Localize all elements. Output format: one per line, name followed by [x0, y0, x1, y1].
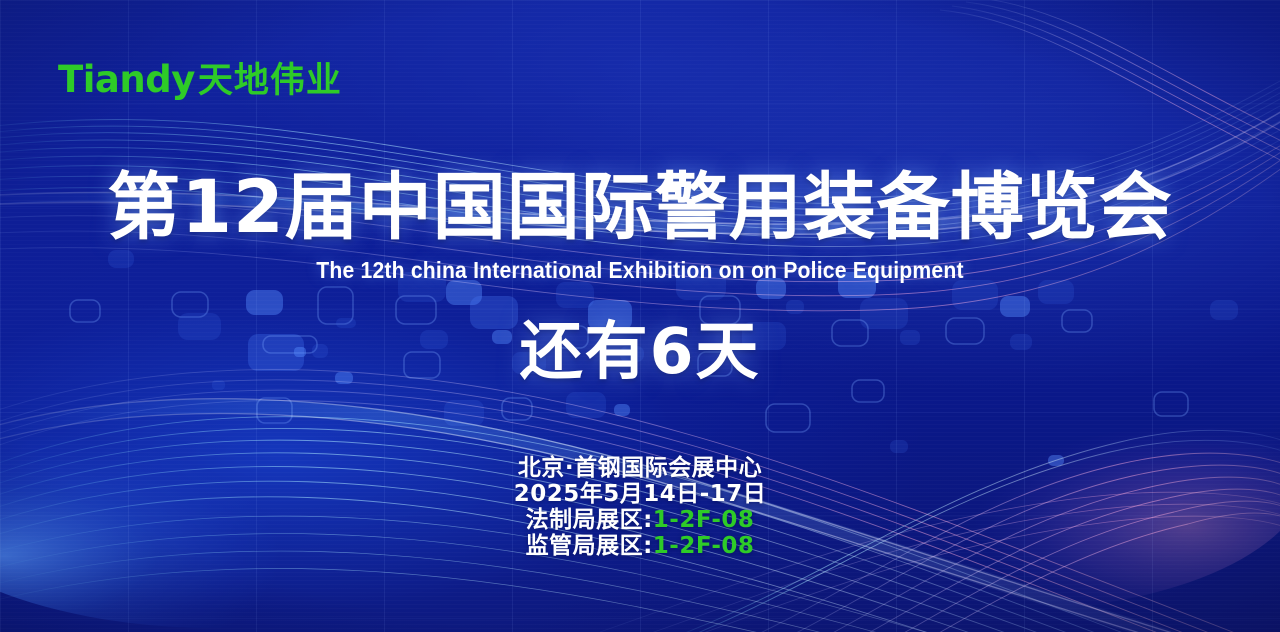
event-info-block: 北京·首钢国际会展中心 2025年5月14日-17日 法制局展区:1-2F-08… — [0, 455, 1280, 559]
booth-line-2: 监管局展区:1-2F-08 — [0, 533, 1280, 559]
dates-line: 2025年5月14日-17日 — [0, 481, 1280, 507]
booth-code-2: 1-2F-08 — [653, 533, 755, 559]
logo-chinese-text: 天地伟业 — [198, 52, 342, 103]
main-title-english: The 12th china International Exhibition … — [51, 257, 1229, 284]
promotional-banner: Tiandy 天地伟业 第12届中国国际警用装备博览会 The 12th chi… — [0, 0, 1280, 632]
countdown-text: 还有6天 — [0, 315, 1280, 389]
venue-line: 北京·首钢国际会展中心 — [0, 455, 1280, 481]
banner-content: Tiandy 天地伟业 第12届中国国际警用装备博览会 The 12th chi… — [0, 0, 1280, 632]
booth-code-1: 1-2F-08 — [653, 507, 755, 533]
booth-label-1: 法制局展区: — [526, 507, 653, 533]
title-block: 第12届中国国际警用装备博览会 The 12th china Internati… — [0, 166, 1280, 284]
main-title-chinese: 第12届中国国际警用装备博览会 — [0, 166, 1280, 250]
booth-line-1: 法制局展区:1-2F-08 — [0, 507, 1280, 533]
booth-label-2: 监管局展区: — [526, 533, 653, 559]
logo-latin-text: Tiandy — [58, 58, 195, 101]
brand-logo: Tiandy 天地伟业 — [58, 52, 342, 103]
